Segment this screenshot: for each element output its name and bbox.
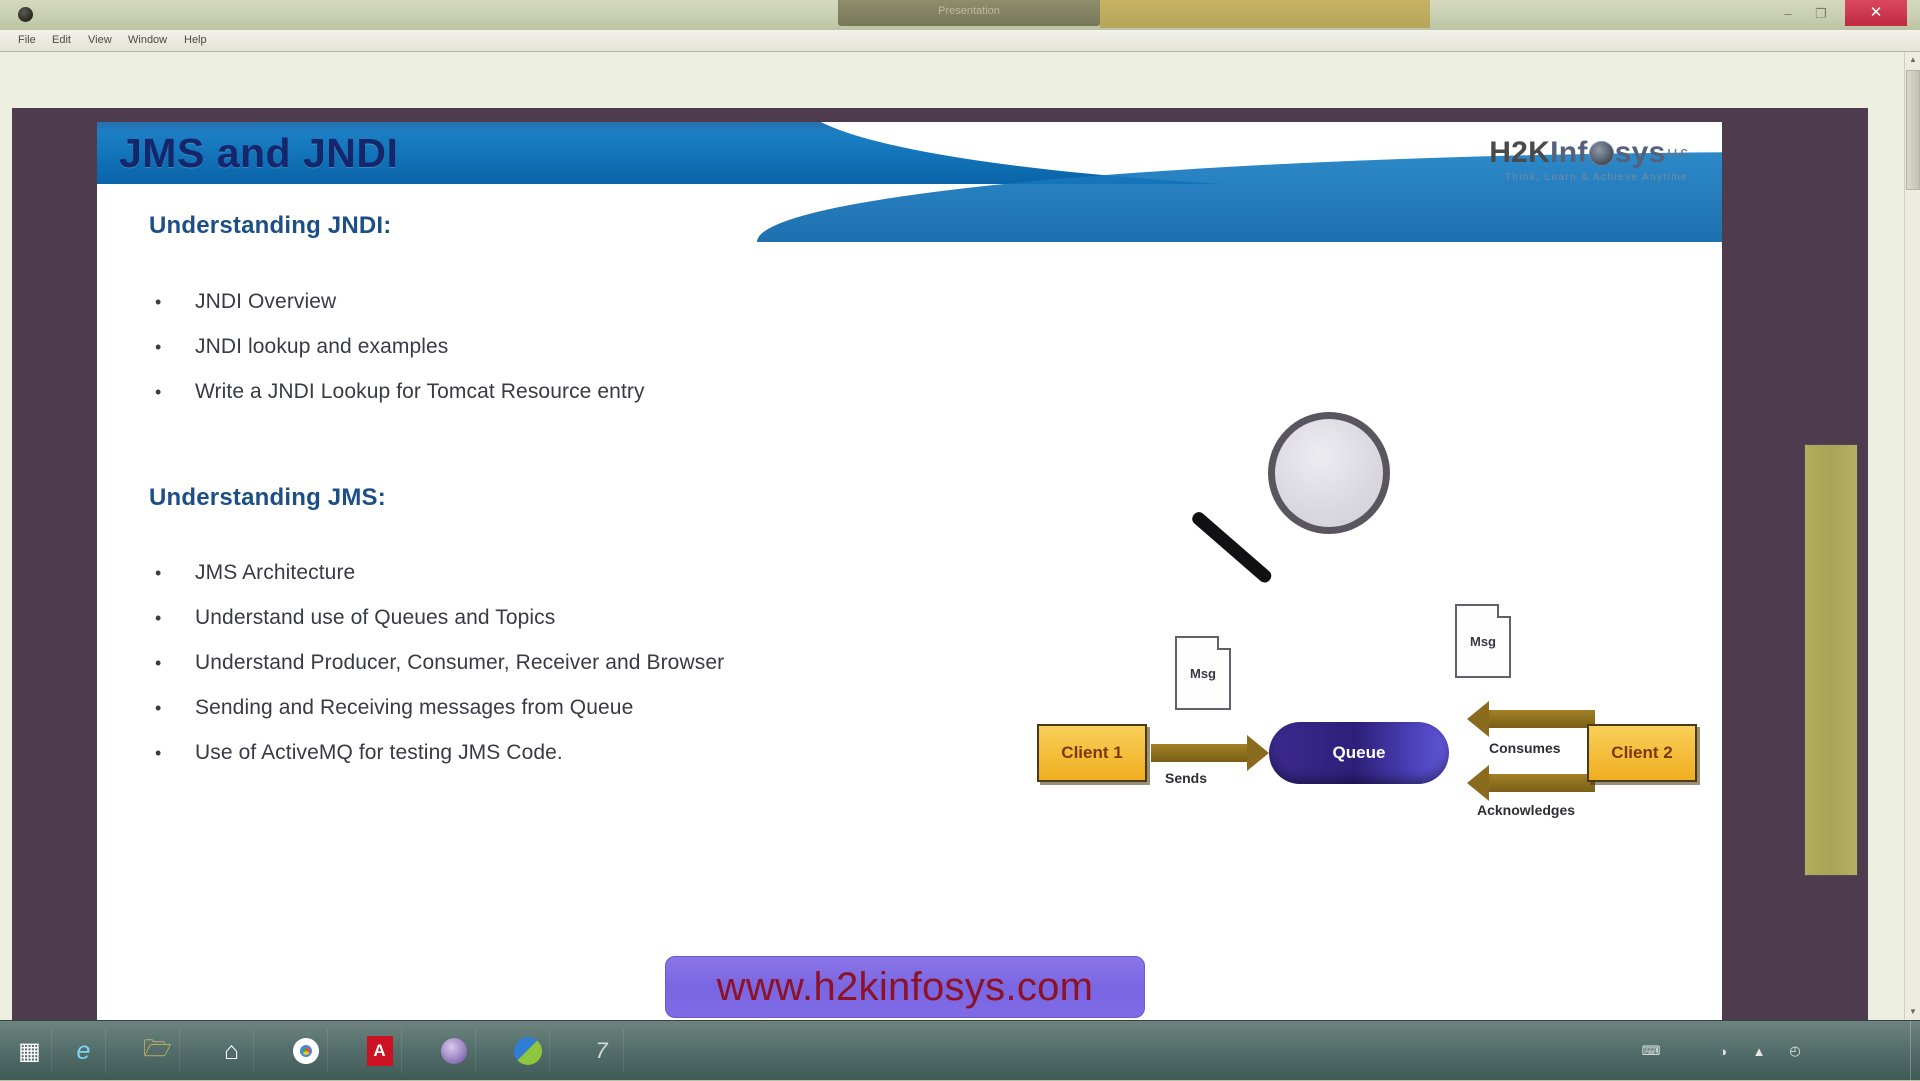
menu-item-file[interactable]: File [14, 34, 40, 46]
slide-frame: JMS and JNDI H2KInfsysLLC Think, Learn &… [12, 108, 1868, 1068]
scroll-down-arrow[interactable]: ▼ [1907, 1006, 1919, 1018]
side-panel [1804, 444, 1858, 876]
jms-queue-diagram: Client 1 Msg Msg [1037, 614, 1697, 834]
bullet-item: • JMS Architecture [155, 561, 355, 585]
file-explorer-icon[interactable]: 🗁 [136, 1029, 180, 1073]
message-doc-2-label: Msg [1470, 634, 1496, 649]
google-chrome-icon[interactable] [284, 1029, 328, 1073]
bullet-item: • Understand Producer, Consumer, Receive… [155, 651, 724, 675]
bullet-text: Sending and Receiving messages from Queu… [195, 696, 633, 720]
logo-wordmark: H2KInfsysLLC [1358, 136, 1688, 170]
logo-llc: LLC [1668, 148, 1688, 159]
magnifier-lens [1268, 412, 1390, 534]
arrow-head [1467, 765, 1489, 801]
network-icon[interactable]: ◴ [1784, 1040, 1806, 1062]
logo-inf: Inf [1550, 136, 1588, 169]
maximize-button[interactable]: ❐ [1808, 3, 1834, 25]
bullet-marker: • [155, 382, 195, 403]
volume-icon[interactable]: ◑ [1712, 1040, 1734, 1062]
document-area: JMS and JNDI H2KInfsysLLC Think, Learn &… [0, 52, 1920, 1020]
section-heading-jndi: Understanding JNDI: [149, 212, 391, 240]
client1-box: Client 1 [1037, 724, 1147, 782]
client2-label: Client 2 [1611, 743, 1672, 763]
globe-browser-icon[interactable] [506, 1029, 550, 1073]
home-icon[interactable]: ⌂ [210, 1029, 254, 1073]
bullet-marker: • [155, 608, 195, 629]
menu-item-view[interactable]: View [84, 34, 116, 46]
keyboard-icon[interactable]: ⌨ [1640, 1040, 1662, 1062]
acknowledges-label: Acknowledges [1477, 802, 1575, 818]
bullet-text: Understand Producer, Consumer, Receiver … [195, 651, 724, 675]
system-tray: ⌨ ◑ ▲ ◴ [1620, 1021, 1920, 1081]
adobe-acrobat-icon[interactable]: A [358, 1029, 402, 1073]
bullet-item: • Use of ActiveMQ for testing JMS Code. [155, 741, 563, 765]
application-window: JMS and JNDI Presentation – ❐ ✕ File Edi… [0, 0, 1920, 1080]
bullet-marker: • [155, 292, 195, 313]
menu-bar: File Edit View Window Help [0, 30, 1920, 52]
chevron-up-icon[interactable]: ▲ [1748, 1040, 1770, 1062]
bullet-item: • Understand use of Queues and Topics [155, 606, 555, 630]
bullet-text: JNDI lookup and examples [195, 335, 448, 359]
bullet-text: JNDI Overview [195, 290, 336, 314]
bullet-item: • Sending and Receiving messages from Qu… [155, 696, 633, 720]
arrow-shaft [1489, 710, 1595, 728]
message-doc-1: Msg [1175, 636, 1231, 710]
titlebar-accent-block [1100, 0, 1430, 28]
menu-item-window[interactable]: Window [124, 34, 171, 46]
window-tab[interactable]: Presentation [838, 0, 1100, 26]
bullet-text: Write a JNDI Lookup for Tomcat Resource … [195, 380, 645, 404]
vertical-scrollbar[interactable]: ▲ ▼ [1904, 52, 1920, 1020]
scrollbar-thumb[interactable] [1906, 70, 1920, 190]
menu-item-edit[interactable]: Edit [48, 34, 75, 46]
doc-fold-corner [1497, 604, 1511, 618]
client2-box: Client 2 [1587, 724, 1697, 782]
doc-fold-corner [1217, 636, 1231, 650]
bullet-marker: • [155, 743, 195, 764]
slide-title: JMS and JNDI [119, 130, 398, 177]
minimize-button[interactable]: – [1775, 3, 1801, 25]
bullet-text: JMS Architecture [195, 561, 355, 585]
bullet-item: • Write a JNDI Lookup for Tomcat Resourc… [155, 380, 645, 404]
arrow-shaft [1151, 744, 1249, 762]
bullet-text: Use of ActiveMQ for testing JMS Code. [195, 741, 563, 765]
start-icon: ▦ [18, 1037, 41, 1066]
bullet-marker: • [155, 698, 195, 719]
taskbar: ▦ e 🗁 ⌂ A 7 ⌨ ◑ ▲ ◴ [0, 1020, 1920, 1080]
logo-tagline: Think, Learn & Achieve Anytime [1358, 172, 1688, 183]
menu-item-help[interactable]: Help [180, 34, 211, 46]
globe-icon [1589, 141, 1614, 166]
logo-h2k: H2K [1489, 136, 1550, 169]
app-icon [18, 7, 33, 22]
client1-label: Client 1 [1061, 743, 1122, 763]
bullet-text: Understand use of Queues and Topics [195, 606, 555, 630]
window-tab-label: Presentation [838, 5, 1100, 17]
scroll-up-arrow[interactable]: ▲ [1907, 54, 1919, 66]
arrow-head [1467, 701, 1489, 737]
show-desktop-button[interactable] [1910, 1021, 1920, 1081]
consumes-label: Consumes [1489, 740, 1561, 756]
queue-label: Queue [1333, 743, 1386, 763]
website-url-ribbon: www.h2kinfosys.com [665, 956, 1145, 1018]
magnifying-glass-icon [1182, 412, 1412, 587]
section-heading-jms: Understanding JMS: [149, 484, 386, 512]
logo-sys: sys [1615, 136, 1666, 169]
message-doc-1-label: Msg [1190, 666, 1216, 681]
slide-body: Understanding JNDI: • JNDI Overview • JN… [97, 184, 1722, 994]
title-bar: JMS and JNDI Presentation – ❐ ✕ [0, 0, 1920, 30]
magnifier-handle [1190, 510, 1274, 585]
media-player-icon[interactable] [432, 1029, 476, 1073]
bullet-marker: • [155, 653, 195, 674]
close-button[interactable]: ✕ [1845, 0, 1907, 26]
message-doc-2: Msg [1455, 604, 1511, 678]
queue-cylinder: Queue [1269, 722, 1449, 784]
bullet-marker: • [155, 563, 195, 584]
internet-explorer-icon[interactable]: e [62, 1029, 106, 1073]
bullet-item: • JNDI Overview [155, 290, 336, 314]
presentation-slide: JMS and JNDI H2KInfsysLLC Think, Learn &… [97, 122, 1722, 1057]
sends-label: Sends [1165, 770, 1207, 786]
start-button[interactable]: ▦ [8, 1029, 52, 1073]
bullet-marker: • [155, 337, 195, 358]
website-url-text: www.h2kinfosys.com [717, 965, 1094, 1010]
arrow-shaft [1489, 774, 1595, 792]
arrow-head [1247, 735, 1269, 771]
seven-app-icon[interactable]: 7 [580, 1029, 624, 1073]
bullet-item: • JNDI lookup and examples [155, 335, 448, 359]
